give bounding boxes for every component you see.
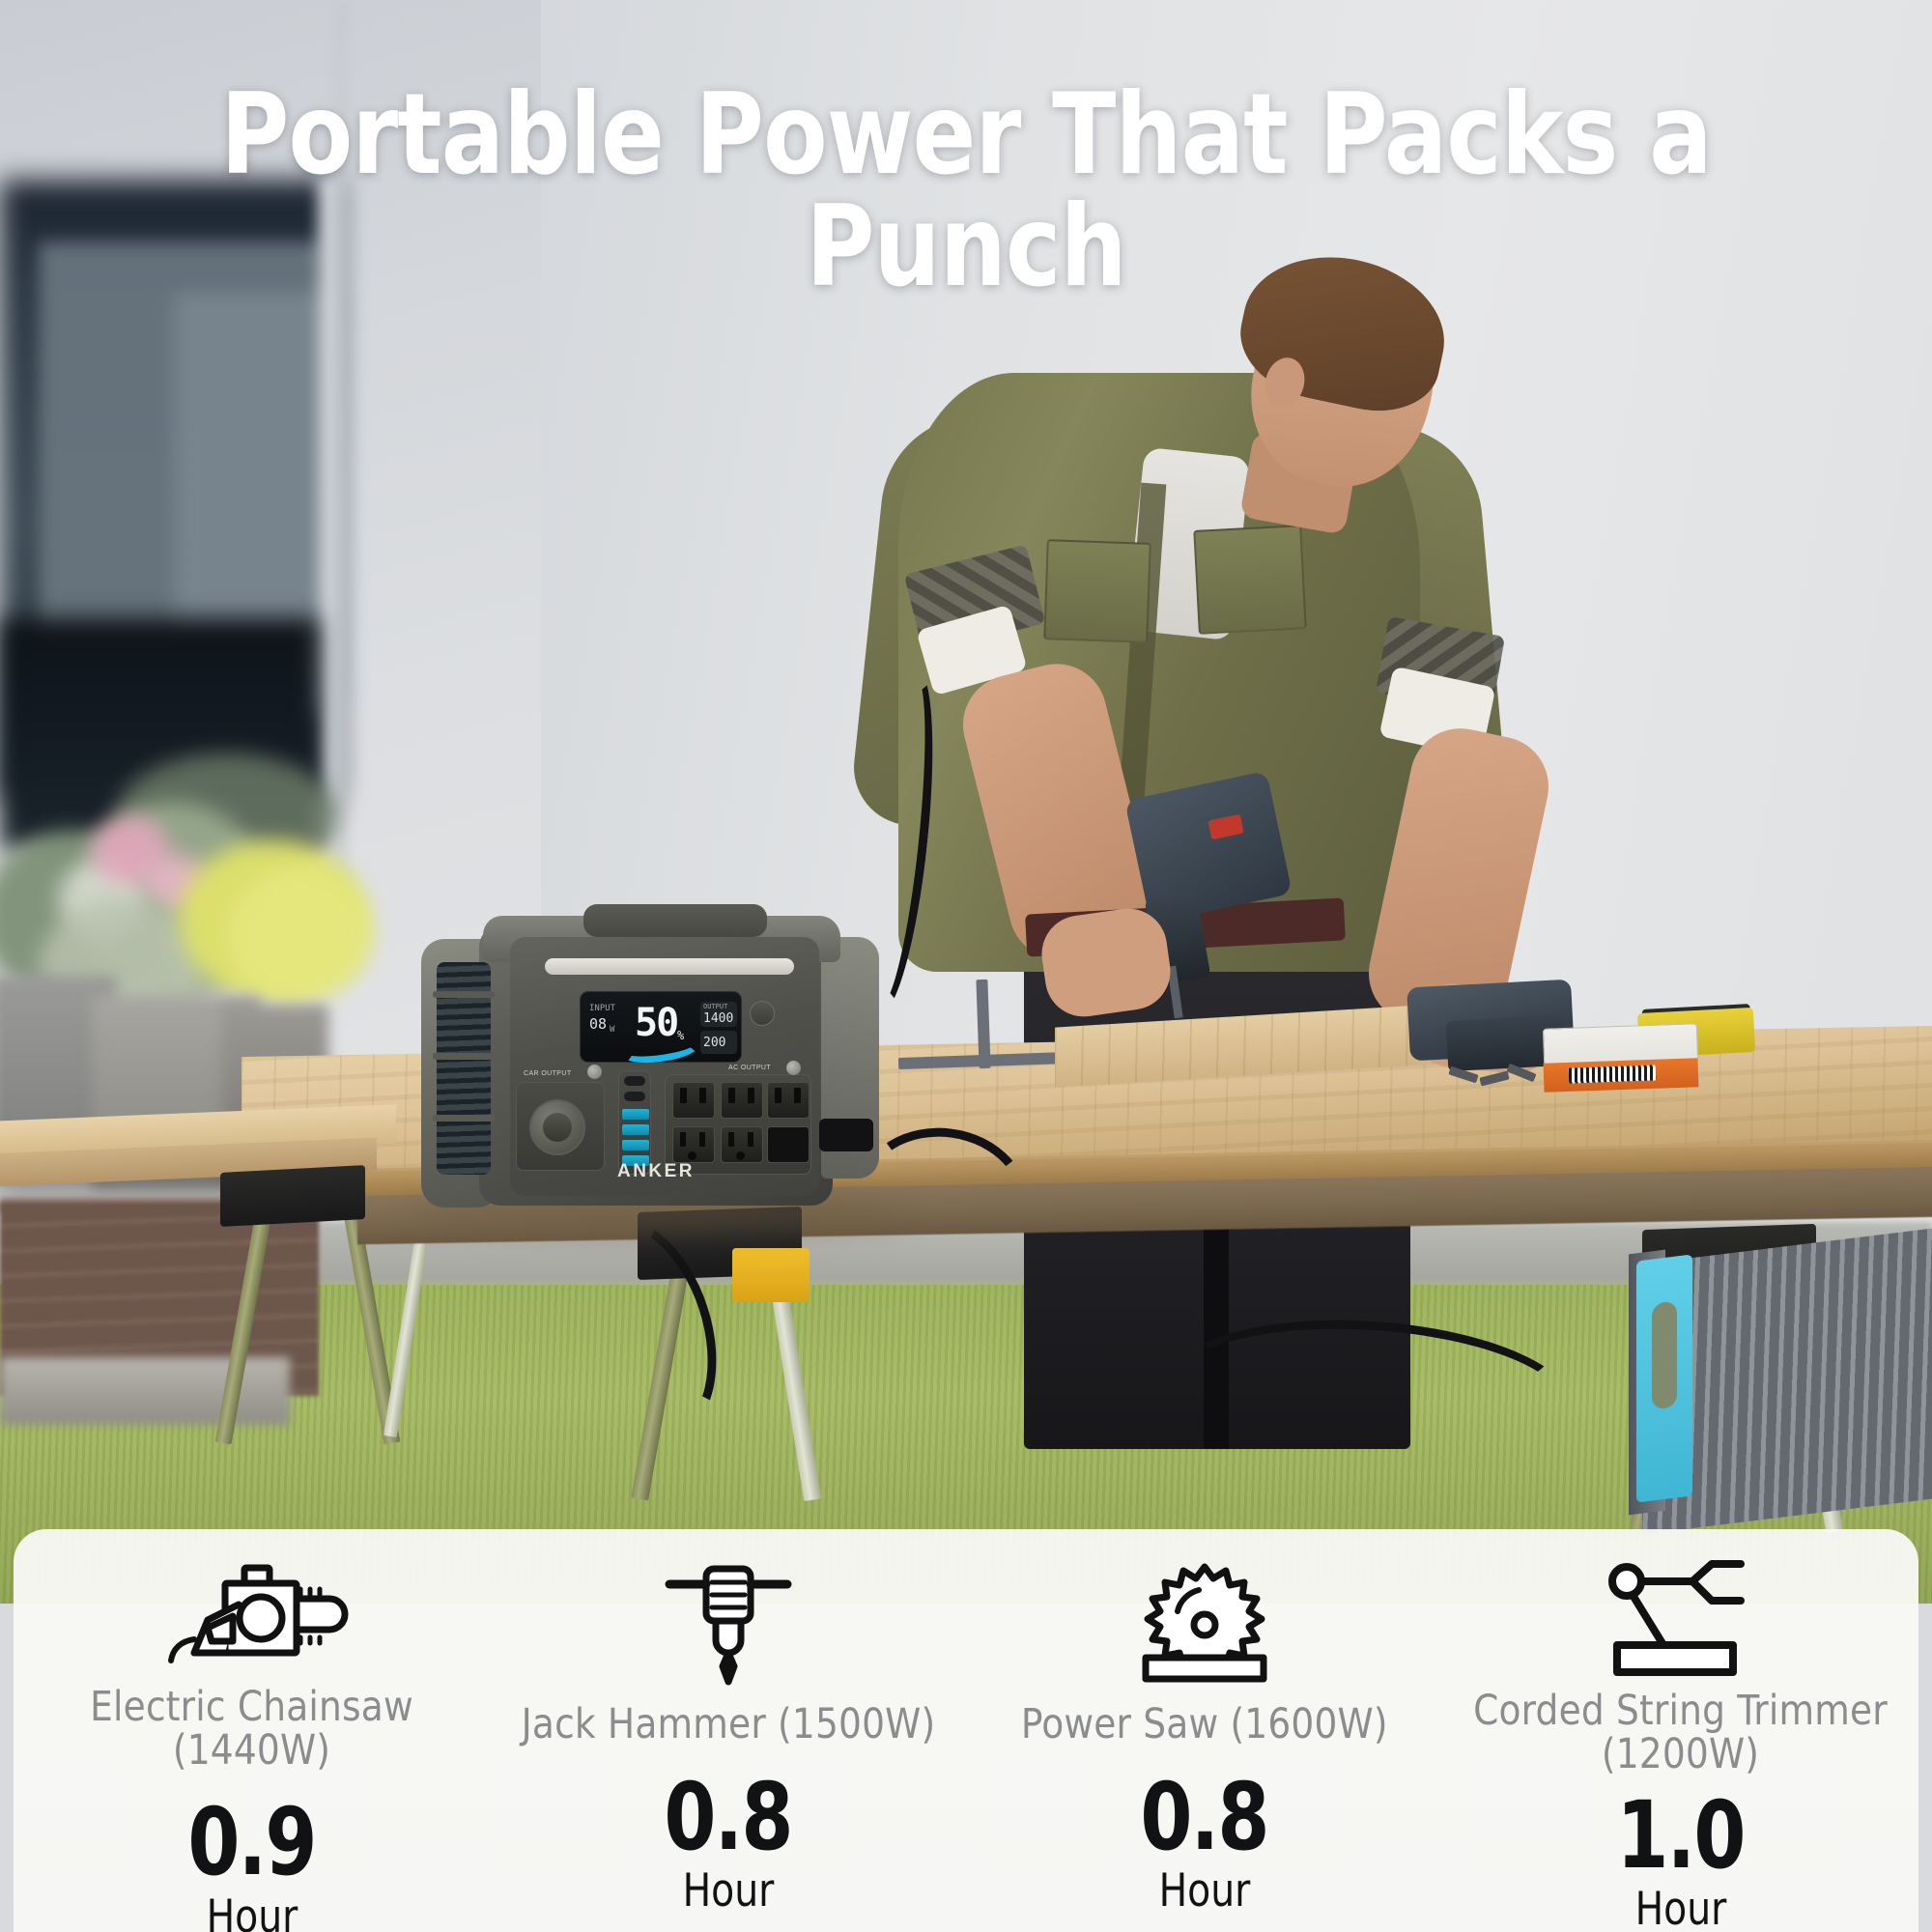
outlet-slot (680, 1132, 686, 1147)
stat-label: Corded String Trimmer (1200W) (1449, 1690, 1911, 1776)
anker-power-station: INPUT 08 W 50 % OUTPUT 1400 200 CAR OUTP… (421, 898, 891, 1217)
stat-unit: Hour (1158, 1868, 1250, 1914)
ac-plug (819, 1119, 873, 1151)
display-input-value: 08 (589, 1015, 607, 1033)
anker-brand-logo: ANKER (421, 1161, 891, 1182)
display-charge-arc (620, 1031, 702, 1066)
stat-label: Electric Chainsaw (1440W) (20, 1686, 482, 1772)
stat-label: Power Saw (1600W) (1021, 1703, 1388, 1747)
barcode (1569, 1065, 1657, 1083)
bench-clamp (732, 1248, 810, 1302)
outlet-slot (699, 1132, 705, 1147)
stat-value: 0.8 (664, 1772, 791, 1862)
ac-outlet[interactable] (767, 1082, 810, 1119)
string-trimmer-icon (1604, 1552, 1758, 1688)
display-output-value: 1400 (703, 1011, 733, 1026)
jackhammer-icon (656, 1552, 801, 1697)
display-secondary-value: 200 (703, 1036, 725, 1050)
panel-screw (786, 1061, 801, 1075)
solar-panel-handle-slot (1652, 1300, 1677, 1409)
outlet-slot (748, 1132, 753, 1147)
station-lcd-display: INPUT 08 W 50 % OUTPUT 1400 200 (580, 991, 742, 1063)
stat-column-jack-hammer: Jack Hammer (1500W) 0.8 Hour (490, 1529, 966, 1932)
stat-column-corded-string-trimmer: Corded String Trimmer (1200W) 1.0 Hour (1442, 1529, 1918, 1932)
stone-border (0, 1357, 290, 1425)
sawhorse-head (220, 1165, 365, 1227)
stat-unit: Hour (682, 1868, 774, 1914)
page-title: Portable Power That Packs a Punch (68, 79, 1864, 303)
outlet-slot (728, 1132, 734, 1147)
stat-unit: Hour (1634, 1887, 1726, 1932)
ac-output-label: AC OUTPUT (728, 1065, 771, 1071)
usb-c-port[interactable] (624, 1076, 645, 1086)
person-shirt-pocket (1193, 525, 1306, 635)
display-input-unit: W (610, 1025, 614, 1035)
station-led-light-bar[interactable] (545, 958, 794, 975)
usb-a-port[interactable] (622, 1109, 649, 1120)
outlet-slot (794, 1088, 801, 1103)
car-output-label: CAR OUTPUT (524, 1070, 572, 1077)
station-vent-bar (433, 1053, 495, 1060)
stat-value: 1.0 (1616, 1790, 1744, 1881)
stat-unit: Hour (206, 1894, 298, 1932)
outlet-slot (699, 1088, 706, 1103)
ac-outlet[interactable] (721, 1082, 763, 1119)
car-output-socket-inner (543, 1113, 572, 1142)
outlet-slot (748, 1088, 754, 1103)
stat-value: 0.9 (187, 1797, 315, 1888)
usb-c-port[interactable] (624, 1092, 645, 1101)
display-output-label: OUTPUT (703, 1003, 727, 1010)
outlet-ground (736, 1151, 745, 1160)
stat-column-electric-chainsaw: Electric Chainsaw (1440W) 0.9 Hour (14, 1529, 490, 1932)
stat-value: 0.8 (1140, 1772, 1267, 1862)
station-carry-handle[interactable] (583, 904, 767, 937)
outlet-slot (775, 1088, 781, 1103)
ac-outlet[interactable] (672, 1082, 715, 1119)
outlet-slot (680, 1088, 687, 1103)
chainsaw-icon (156, 1552, 349, 1680)
usb-a-port[interactable] (622, 1124, 649, 1135)
ac-outlet-plugged[interactable] (767, 1126, 810, 1163)
stat-column-power-saw: Power Saw (1600W) 0.8 Hour (966, 1529, 1442, 1932)
circular-saw-icon (1132, 1552, 1277, 1697)
person-shirt-pocket (1043, 539, 1151, 643)
display-input-label: INPUT (589, 1004, 615, 1013)
outlet-slot (728, 1088, 735, 1103)
panel-screw (587, 1065, 602, 1079)
stat-label: Jack Hammer (1500W) (521, 1703, 935, 1747)
station-light-button[interactable] (750, 1001, 775, 1026)
runtime-stats-card: Electric Chainsaw (1440W) 0.9 Hour Jack … (14, 1529, 1918, 1932)
outlet-ground (688, 1151, 696, 1160)
product-marketing-image: INPUT 08 W 50 % OUTPUT 1400 200 CAR OUTP… (0, 0, 1932, 1932)
usb-a-port[interactable] (622, 1140, 649, 1151)
station-vent-bar (433, 1115, 495, 1122)
station-vent-bar (433, 991, 495, 998)
flower-yellow-2 (227, 869, 372, 1000)
